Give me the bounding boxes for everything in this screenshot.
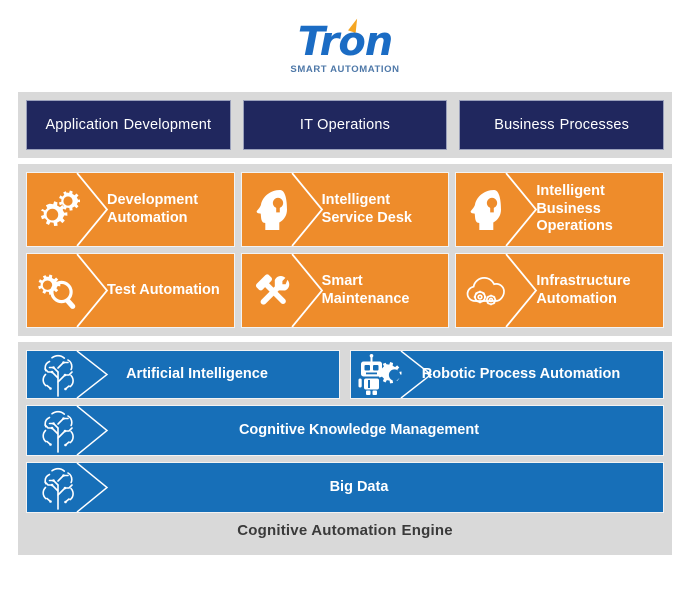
- logo-tagline: SMART AUTOMATION: [290, 64, 399, 75]
- capability-tile-test-automation[interactable]: Test Automation: [26, 253, 235, 328]
- brain-circuit-icon: [27, 463, 89, 512]
- logo-text: Tron: [298, 19, 393, 65]
- cloud-gears-icon: [456, 254, 518, 327]
- engine-label: Robotic Process Automation: [413, 366, 663, 384]
- automation-framework-diagram: Tron SMART AUTOMATION ApplicationDevelop…: [0, 0, 690, 589]
- capability-label: Intelligent Service Desk: [304, 192, 449, 227]
- engine-tile-cognitive-knowledge-management[interactable]: Cognitive Knowledge Management: [26, 405, 664, 456]
- nav-it-operations[interactable]: IT Operations: [243, 100, 448, 150]
- engine-caption: Cognitive AutomationEngine: [26, 513, 664, 547]
- engine-tile-big-data[interactable]: Big Data: [26, 462, 664, 513]
- brain-circuit-icon: [27, 351, 89, 398]
- nav-application-development[interactable]: ApplicationDevelopment: [26, 100, 231, 150]
- domain-nav-row: ApplicationDevelopment IT Operations Bus…: [26, 100, 664, 150]
- nav-label-part-a: IT Operations: [300, 117, 390, 133]
- capability-label: Development Automation: [89, 192, 234, 227]
- engine-layer-stack: Artificial Intelligence: [26, 350, 664, 513]
- capability-tile-infrastructure-automation[interactable]: Infrastructure Automation: [455, 253, 664, 328]
- nav-label-part-a: Application: [45, 117, 118, 133]
- engine-caption-part-b: Engine: [402, 522, 453, 539]
- wrench-hammer-icon: [242, 254, 304, 327]
- gears-icon: [27, 173, 89, 246]
- capability-tile-intelligent-service-desk[interactable]: Intelligent Service Desk: [241, 172, 450, 247]
- engine-label: Cognitive Knowledge Management: [89, 422, 663, 440]
- nav-label-part-a: Business: [494, 117, 554, 133]
- capabilities-grid: Development Automation Intelligent Ser: [26, 172, 664, 328]
- capability-tile-development-automation[interactable]: Development Automation: [26, 172, 235, 247]
- engine-tile-robotic-process-automation[interactable]: Robotic Process Automation: [350, 350, 664, 399]
- capability-tile-intelligent-business-operations[interactable]: Intelligent Business Operations: [455, 172, 664, 247]
- nav-label-part-b: Processes: [560, 117, 630, 133]
- engine-caption-part-a: Cognitive Automation: [237, 522, 396, 539]
- nav-label-part-b: Development: [124, 117, 212, 133]
- brand-logo: Tron SMART AUTOMATION: [0, 12, 690, 84]
- engine-top-row: Artificial Intelligence: [26, 350, 664, 399]
- capability-label: Infrastructure Automation: [518, 273, 663, 308]
- engine-tile-artificial-intelligence[interactable]: Artificial Intelligence: [26, 350, 340, 399]
- capability-label: Intelligent Business Operations: [518, 183, 663, 236]
- capability-label: Smart Maintenance: [304, 273, 449, 308]
- engine-label: Artificial Intelligence: [89, 366, 339, 384]
- engine-label: Big Data: [89, 479, 663, 497]
- nav-business-processes[interactable]: BusinessProcesses: [459, 100, 664, 150]
- robot-gear-icon: [351, 351, 413, 398]
- logo-wordmark: Tron: [298, 22, 393, 62]
- head-lightbulb-icon: [456, 173, 518, 246]
- gear-magnifier-icon: [27, 254, 89, 327]
- domain-nav-panel: ApplicationDevelopment IT Operations Bus…: [18, 92, 672, 158]
- brain-circuit-icon: [27, 406, 89, 455]
- capability-tile-smart-maintenance[interactable]: Smart Maintenance: [241, 253, 450, 328]
- cognitive-automation-engine-panel: Artificial Intelligence: [18, 342, 672, 555]
- capabilities-panel: Development Automation Intelligent Ser: [18, 164, 672, 336]
- head-lightbulb-icon: [242, 173, 304, 246]
- capability-label: Test Automation: [89, 282, 234, 300]
